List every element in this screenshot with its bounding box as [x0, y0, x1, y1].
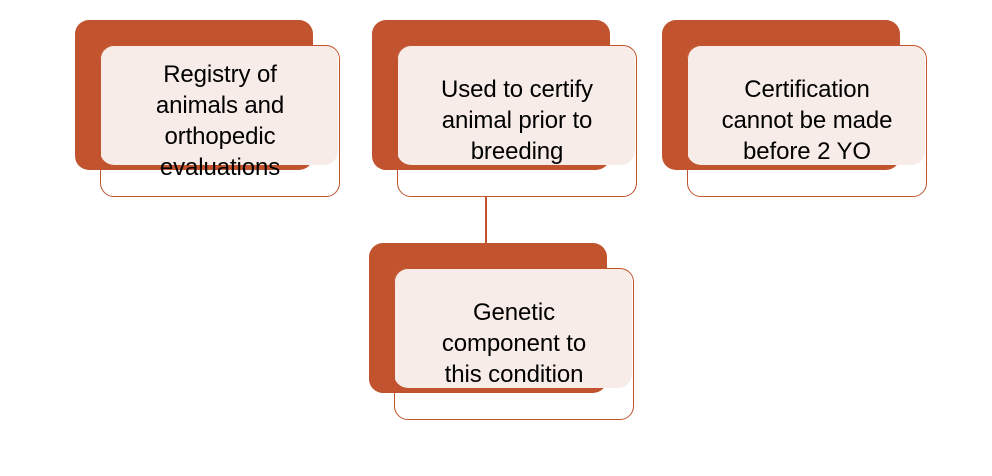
registry-node-outline-layer[interactable]: [100, 45, 340, 197]
connector-certify-to-genetic: [485, 196, 487, 245]
diagram-canvas: Registry of animals and orthopedic evalu…: [0, 0, 992, 476]
genetic-node-outline-layer[interactable]: [394, 268, 634, 420]
certify-node-outline-layer[interactable]: [397, 45, 637, 197]
age-limit-node-outline-layer[interactable]: [687, 45, 927, 197]
